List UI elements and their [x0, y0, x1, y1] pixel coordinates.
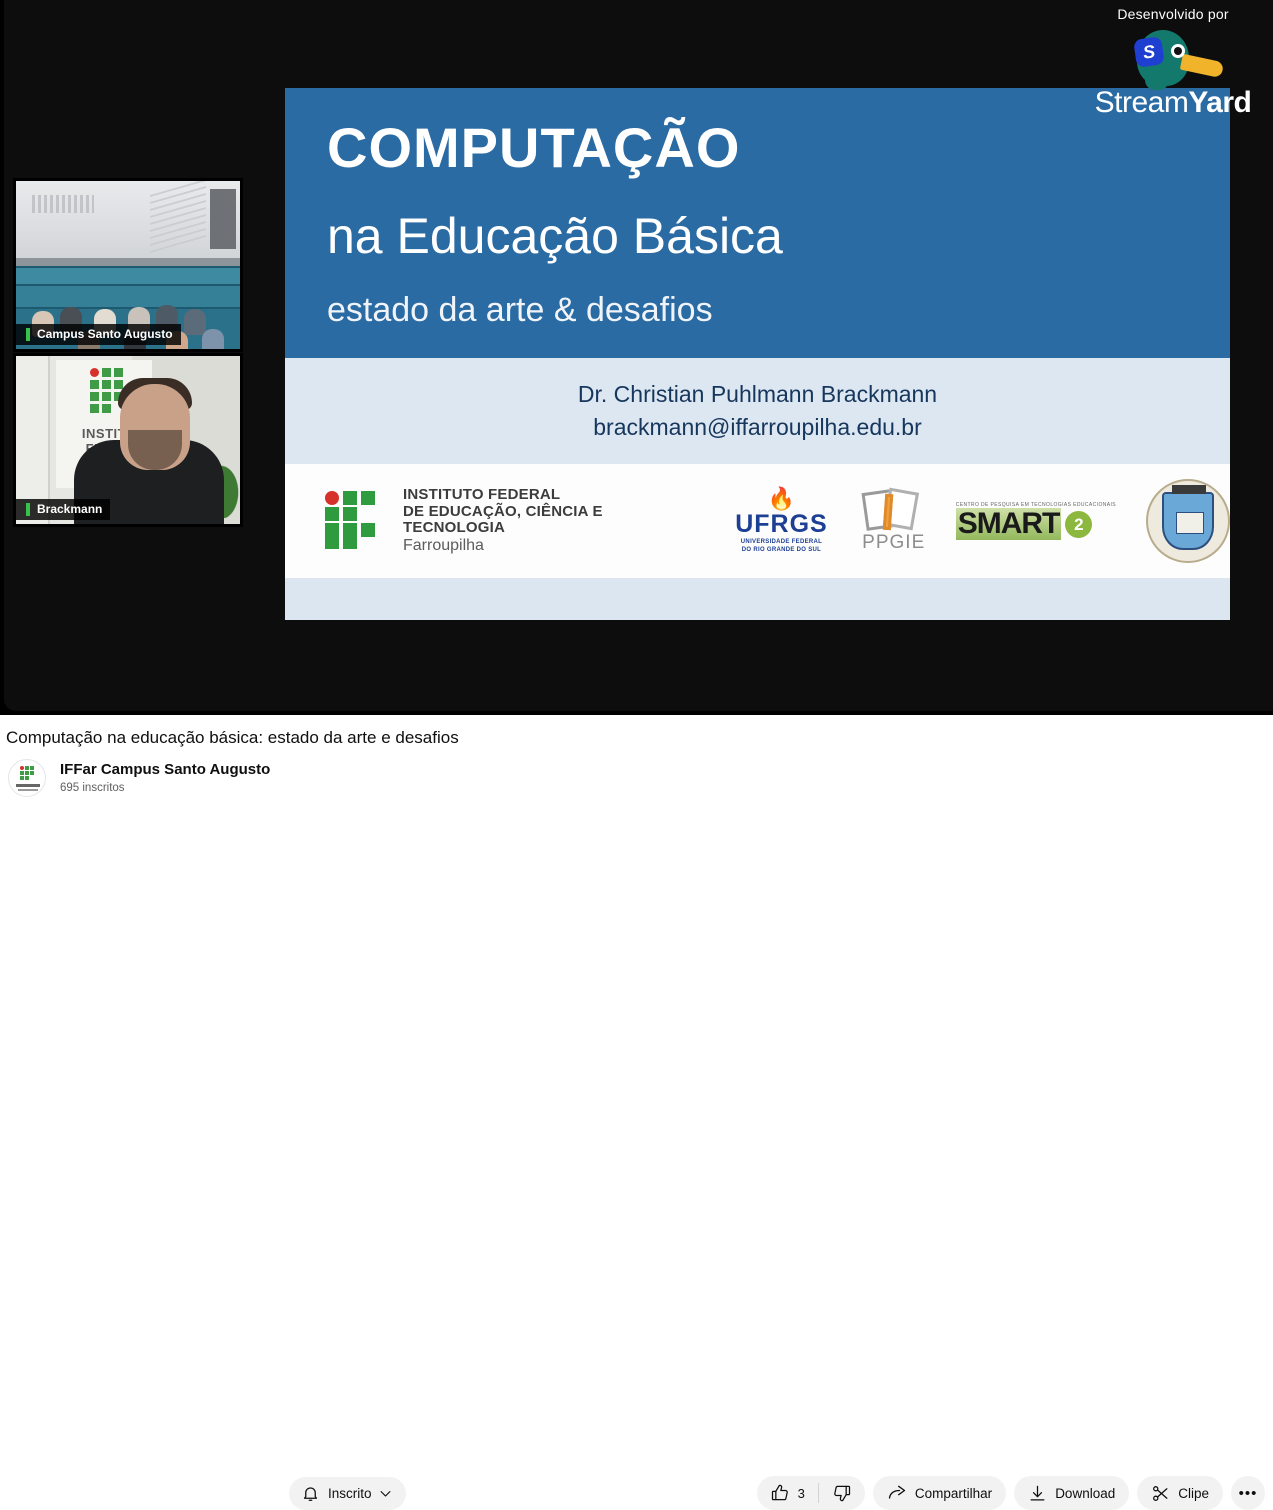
- streamyard-wordmark: StreamYard: [1083, 88, 1263, 118]
- more-horizontal-icon: •••: [1239, 1485, 1258, 1502]
- participant-name-badge: Brackmann: [16, 499, 110, 520]
- if-line1: INSTITUTO FEDERAL: [403, 487, 689, 504]
- slide-title-line2: na Educação Básica: [327, 211, 783, 261]
- channel-owner-block[interactable]: IFFar Campus Santo Augusto 695 inscritos: [8, 759, 270, 797]
- ufrgs-sub1: UNIVERSIDADE FEDERAL: [735, 539, 828, 547]
- instituto-federal-logo-icon: [325, 491, 389, 551]
- ppgie-mark-icon: [862, 488, 926, 532]
- smart-logo: CENTRO DE PESQUISA EM TECNOLOGIAS EDUCAC…: [956, 502, 1116, 540]
- scissors-icon: [1151, 1484, 1170, 1503]
- ufrgs-wordmark: UFRGS: [735, 510, 828, 539]
- upm-seal-icon: [1146, 479, 1230, 563]
- share-button[interactable]: Compartilhar: [873, 1476, 1006, 1510]
- streamyard-watermark: Desenvolvido por S StreamYard: [1083, 6, 1263, 118]
- like-count: 3: [798, 1486, 805, 1501]
- wordmark-yard: Yard: [1188, 86, 1251, 119]
- dislike-button[interactable]: [819, 1476, 865, 1510]
- upm-logo: [1146, 479, 1230, 563]
- streamyard-duck-logo-icon: S: [1083, 26, 1263, 88]
- instituto-federal-logo-text: INSTITUTO FEDERAL DE EDUCAÇÃO, CIÊNCIA E…: [403, 487, 689, 555]
- shared-screen-slide: COMPUTAÇÃO na Educação Básica estado da …: [285, 88, 1230, 620]
- ufrgs-sub2: DO RIO GRANDE DO SUL: [735, 547, 828, 555]
- slide-logo-strip: INSTITUTO FEDERAL DE EDUCAÇÃO, CIÊNCIA E…: [285, 464, 1230, 578]
- smart-badge: 2: [1065, 511, 1092, 538]
- slide-header-band: COMPUTAÇÃO na Educação Básica estado da …: [285, 88, 1230, 358]
- video-surface[interactable]: COMPUTAÇÃO na Educação Básica estado da …: [4, 0, 1273, 711]
- participant-name: Brackmann: [37, 502, 102, 516]
- download-label: Download: [1055, 1486, 1115, 1501]
- clip-button[interactable]: Clipe: [1137, 1476, 1223, 1510]
- thumbs-down-icon: [832, 1483, 852, 1503]
- slide-title-line3: estado da arte & desafios: [327, 293, 713, 327]
- share-label: Compartilhar: [915, 1486, 992, 1501]
- share-icon: [887, 1483, 907, 1503]
- clip-label: Clipe: [1178, 1486, 1209, 1501]
- watermark-tagline: Desenvolvido por: [1083, 6, 1263, 22]
- participant-name-badge: Campus Santo Augusto: [16, 324, 181, 345]
- video-title: Computação na educação básica: estado da…: [6, 728, 459, 748]
- ufrgs-logo: 🔥 UFRGS UNIVERSIDADE FEDERAL DO RIO GRAN…: [735, 488, 828, 554]
- bell-icon: [301, 1484, 320, 1503]
- subscribe-button[interactable]: Inscrito: [289, 1477, 406, 1510]
- download-icon: [1028, 1484, 1047, 1503]
- chevron-down-icon: [378, 1486, 393, 1501]
- subscriber-count: 695 inscritos: [60, 780, 270, 796]
- channel-avatar[interactable]: [8, 759, 46, 797]
- ppgie-wordmark: PPGIE: [862, 532, 926, 554]
- smart-wordmark: SMART: [956, 508, 1062, 540]
- slide-presenter-band: Dr. Christian Puhlmann Brackmann brackma…: [285, 358, 1230, 464]
- streamyard-s-badge: S: [1133, 36, 1165, 68]
- slide-title-line1: COMPUTAÇÃO: [327, 120, 740, 176]
- like-dislike-group: 3: [757, 1476, 865, 1510]
- slide-presenter-email: brackmann@iffarroupilha.edu.br: [593, 411, 922, 444]
- more-options-button[interactable]: •••: [1231, 1476, 1265, 1510]
- video-action-bar: 3 Compartilhar: [757, 1476, 1265, 1510]
- slide-footer-band: [285, 578, 1230, 620]
- ufrgs-flame-icon: 🔥: [735, 488, 828, 510]
- participant-tile-presenter[interactable]: INSTITFEDE Brackmann: [13, 353, 243, 527]
- download-button[interactable]: Download: [1014, 1476, 1129, 1510]
- if-line3: Farroupilha: [403, 537, 689, 555]
- subscribe-label: Inscrito: [328, 1486, 372, 1501]
- channel-name[interactable]: IFFar Campus Santo Augusto: [60, 760, 270, 780]
- participant-tile-audience[interactable]: Campus Santo Augusto: [13, 178, 243, 352]
- slide-presenter-name: Dr. Christian Puhlmann Brackmann: [578, 378, 937, 411]
- ppgie-logo: PPGIE: [862, 488, 926, 554]
- if-line2: DE EDUCAÇÃO, CIÊNCIA E TECNOLOGIA: [403, 504, 689, 538]
- video-meta-section: Computação na educação básica: estado da…: [0, 715, 1273, 811]
- video-player[interactable]: COMPUTAÇÃO na Educação Básica estado da …: [0, 0, 1273, 715]
- thumbs-up-icon: [770, 1483, 790, 1503]
- participant-name: Campus Santo Augusto: [37, 327, 173, 341]
- like-button[interactable]: 3: [757, 1476, 818, 1510]
- wordmark-stream: Stream: [1095, 86, 1189, 119]
